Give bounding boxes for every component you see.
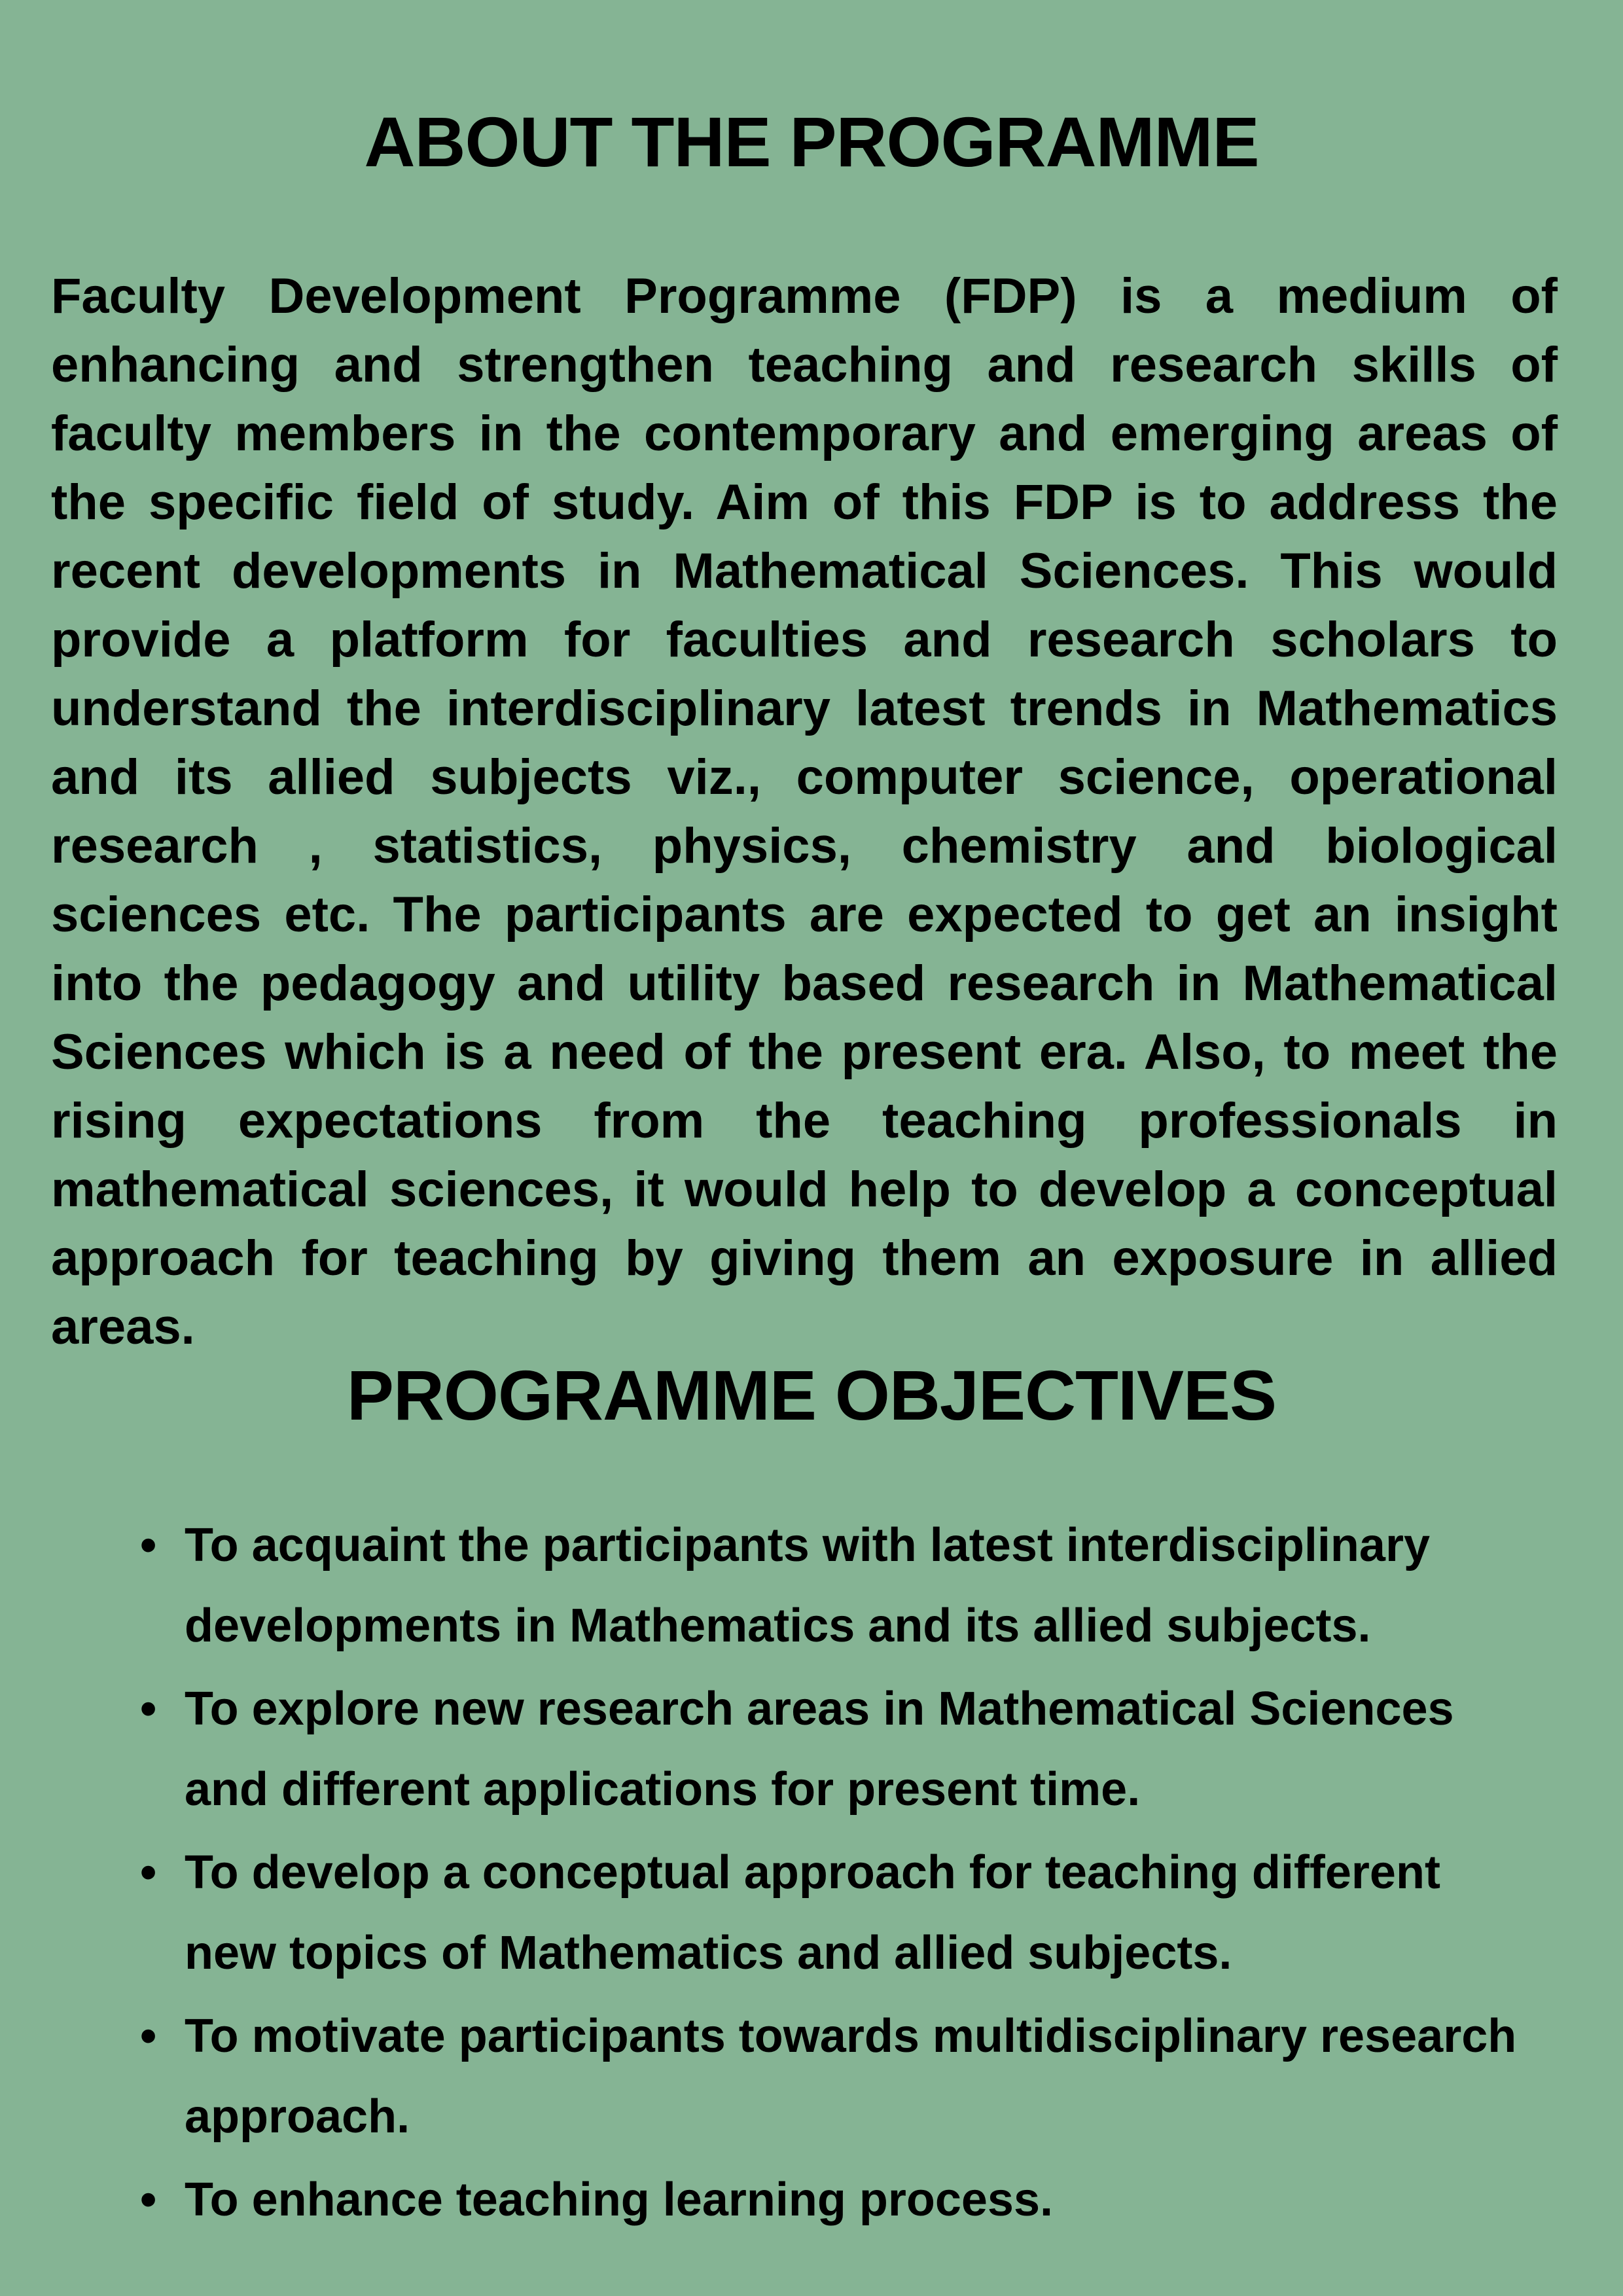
list-item: • To acquaint the participants with late… bbox=[131, 1505, 1538, 1666]
bullet-icon: • bbox=[140, 1833, 156, 1913]
list-item-label: To explore new research areas in Mathema… bbox=[185, 1683, 1454, 1816]
list-item: • To enhance teaching learning process. bbox=[131, 2160, 1538, 2240]
programme-objectives-heading: PROGRAMME OBJECTIVES bbox=[0, 1358, 1623, 1432]
about-the-programme-heading: ABOUT THE PROGRAMME bbox=[0, 105, 1623, 179]
bullet-icon: • bbox=[140, 2160, 156, 2240]
list-item-label: To acquaint the participants with latest… bbox=[185, 1519, 1430, 1652]
programme-objectives-list: • To acquaint the participants with late… bbox=[131, 1505, 1538, 2243]
about-the-programme-paragraph: Faculty Development Programme (FDP) is a… bbox=[51, 262, 1558, 1361]
list-item: • To explore new research areas in Mathe… bbox=[131, 1669, 1538, 1830]
list-item: • To develop a conceptual approach for t… bbox=[131, 1833, 1538, 1994]
list-item: • To motivate participants towards multi… bbox=[131, 1996, 1538, 2157]
brochure-page: ABOUT THE PROGRAMME Faculty Development … bbox=[0, 0, 1623, 2296]
bullet-icon: • bbox=[140, 1669, 156, 1749]
list-item-label: To enhance teaching learning process. bbox=[185, 2174, 1053, 2226]
list-item-label: To motivate participants towards multidi… bbox=[185, 2010, 1516, 2143]
bullet-icon: • bbox=[140, 1996, 156, 2077]
bullet-icon: • bbox=[140, 1505, 156, 1586]
list-item-label: To develop a conceptual approach for tea… bbox=[185, 1846, 1440, 1979]
